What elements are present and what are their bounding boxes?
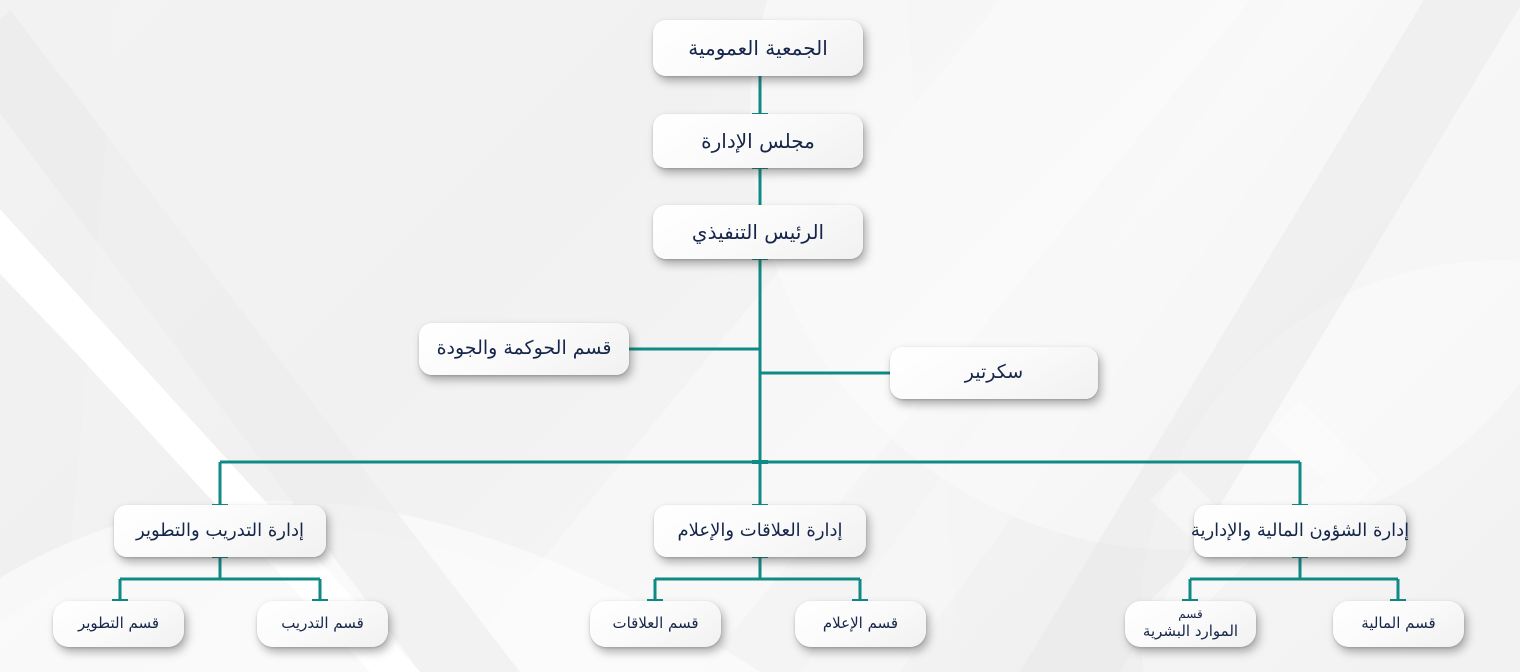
node-finance-admin-dept[interactable]: إدارة الشؤون المالية والإدارية — [1194, 505, 1406, 557]
node-label-line1: قسم — [1178, 608, 1202, 622]
node-label: إدارة الشؤون المالية والإدارية — [1191, 521, 1409, 542]
node-media-unit[interactable]: قسم الإعلام — [795, 601, 926, 647]
node-relations-unit[interactable]: قسم العلاقات — [590, 601, 721, 647]
node-label: الرئيس التنفيذي — [692, 221, 824, 244]
org-chart-canvas: الجمعية العمومية مجلس الإدارة الرئيس الت… — [0, 0, 1520, 672]
node-secretary[interactable]: سكرتير — [890, 347, 1098, 399]
node-training-development-dept[interactable]: إدارة التدريب والتطوير — [114, 505, 326, 557]
node-label: قسم العلاقات — [612, 615, 698, 632]
node-training-unit[interactable]: قسم التدريب — [257, 601, 388, 647]
node-development-unit[interactable]: قسم التطوير — [53, 601, 184, 647]
node-label: قسم التدريب — [281, 615, 364, 632]
node-label: إدارة التدريب والتطوير — [136, 521, 304, 542]
node-label: سكرتير — [965, 362, 1023, 384]
node-finance-unit[interactable]: قسم المالية — [1333, 601, 1464, 647]
node-label: مجلس الإدارة — [701, 130, 815, 153]
background-decoration — [0, 0, 1520, 672]
node-label: الجمعية العمومية — [688, 37, 828, 60]
node-board-of-directors[interactable]: مجلس الإدارة — [653, 114, 863, 168]
node-label: قسم الإعلام — [823, 615, 898, 632]
node-label: قسم التطوير — [78, 615, 159, 632]
node-label-line2: الموارد البشرية — [1143, 623, 1238, 640]
node-relations-media-dept[interactable]: إدارة العلاقات والإعلام — [654, 505, 866, 557]
connector-lines — [0, 0, 1520, 672]
node-governance-quality[interactable]: قسم الحوكمة والجودة — [419, 323, 629, 375]
node-ceo[interactable]: الرئيس التنفيذي — [653, 205, 863, 259]
node-label: قسم الحوكمة والجودة — [437, 338, 612, 360]
node-label: إدارة العلاقات والإعلام — [677, 521, 842, 542]
node-general-assembly[interactable]: الجمعية العمومية — [653, 20, 863, 76]
node-human-resources-unit[interactable]: قسم الموارد البشرية — [1125, 601, 1256, 647]
node-label: قسم المالية — [1361, 615, 1435, 632]
